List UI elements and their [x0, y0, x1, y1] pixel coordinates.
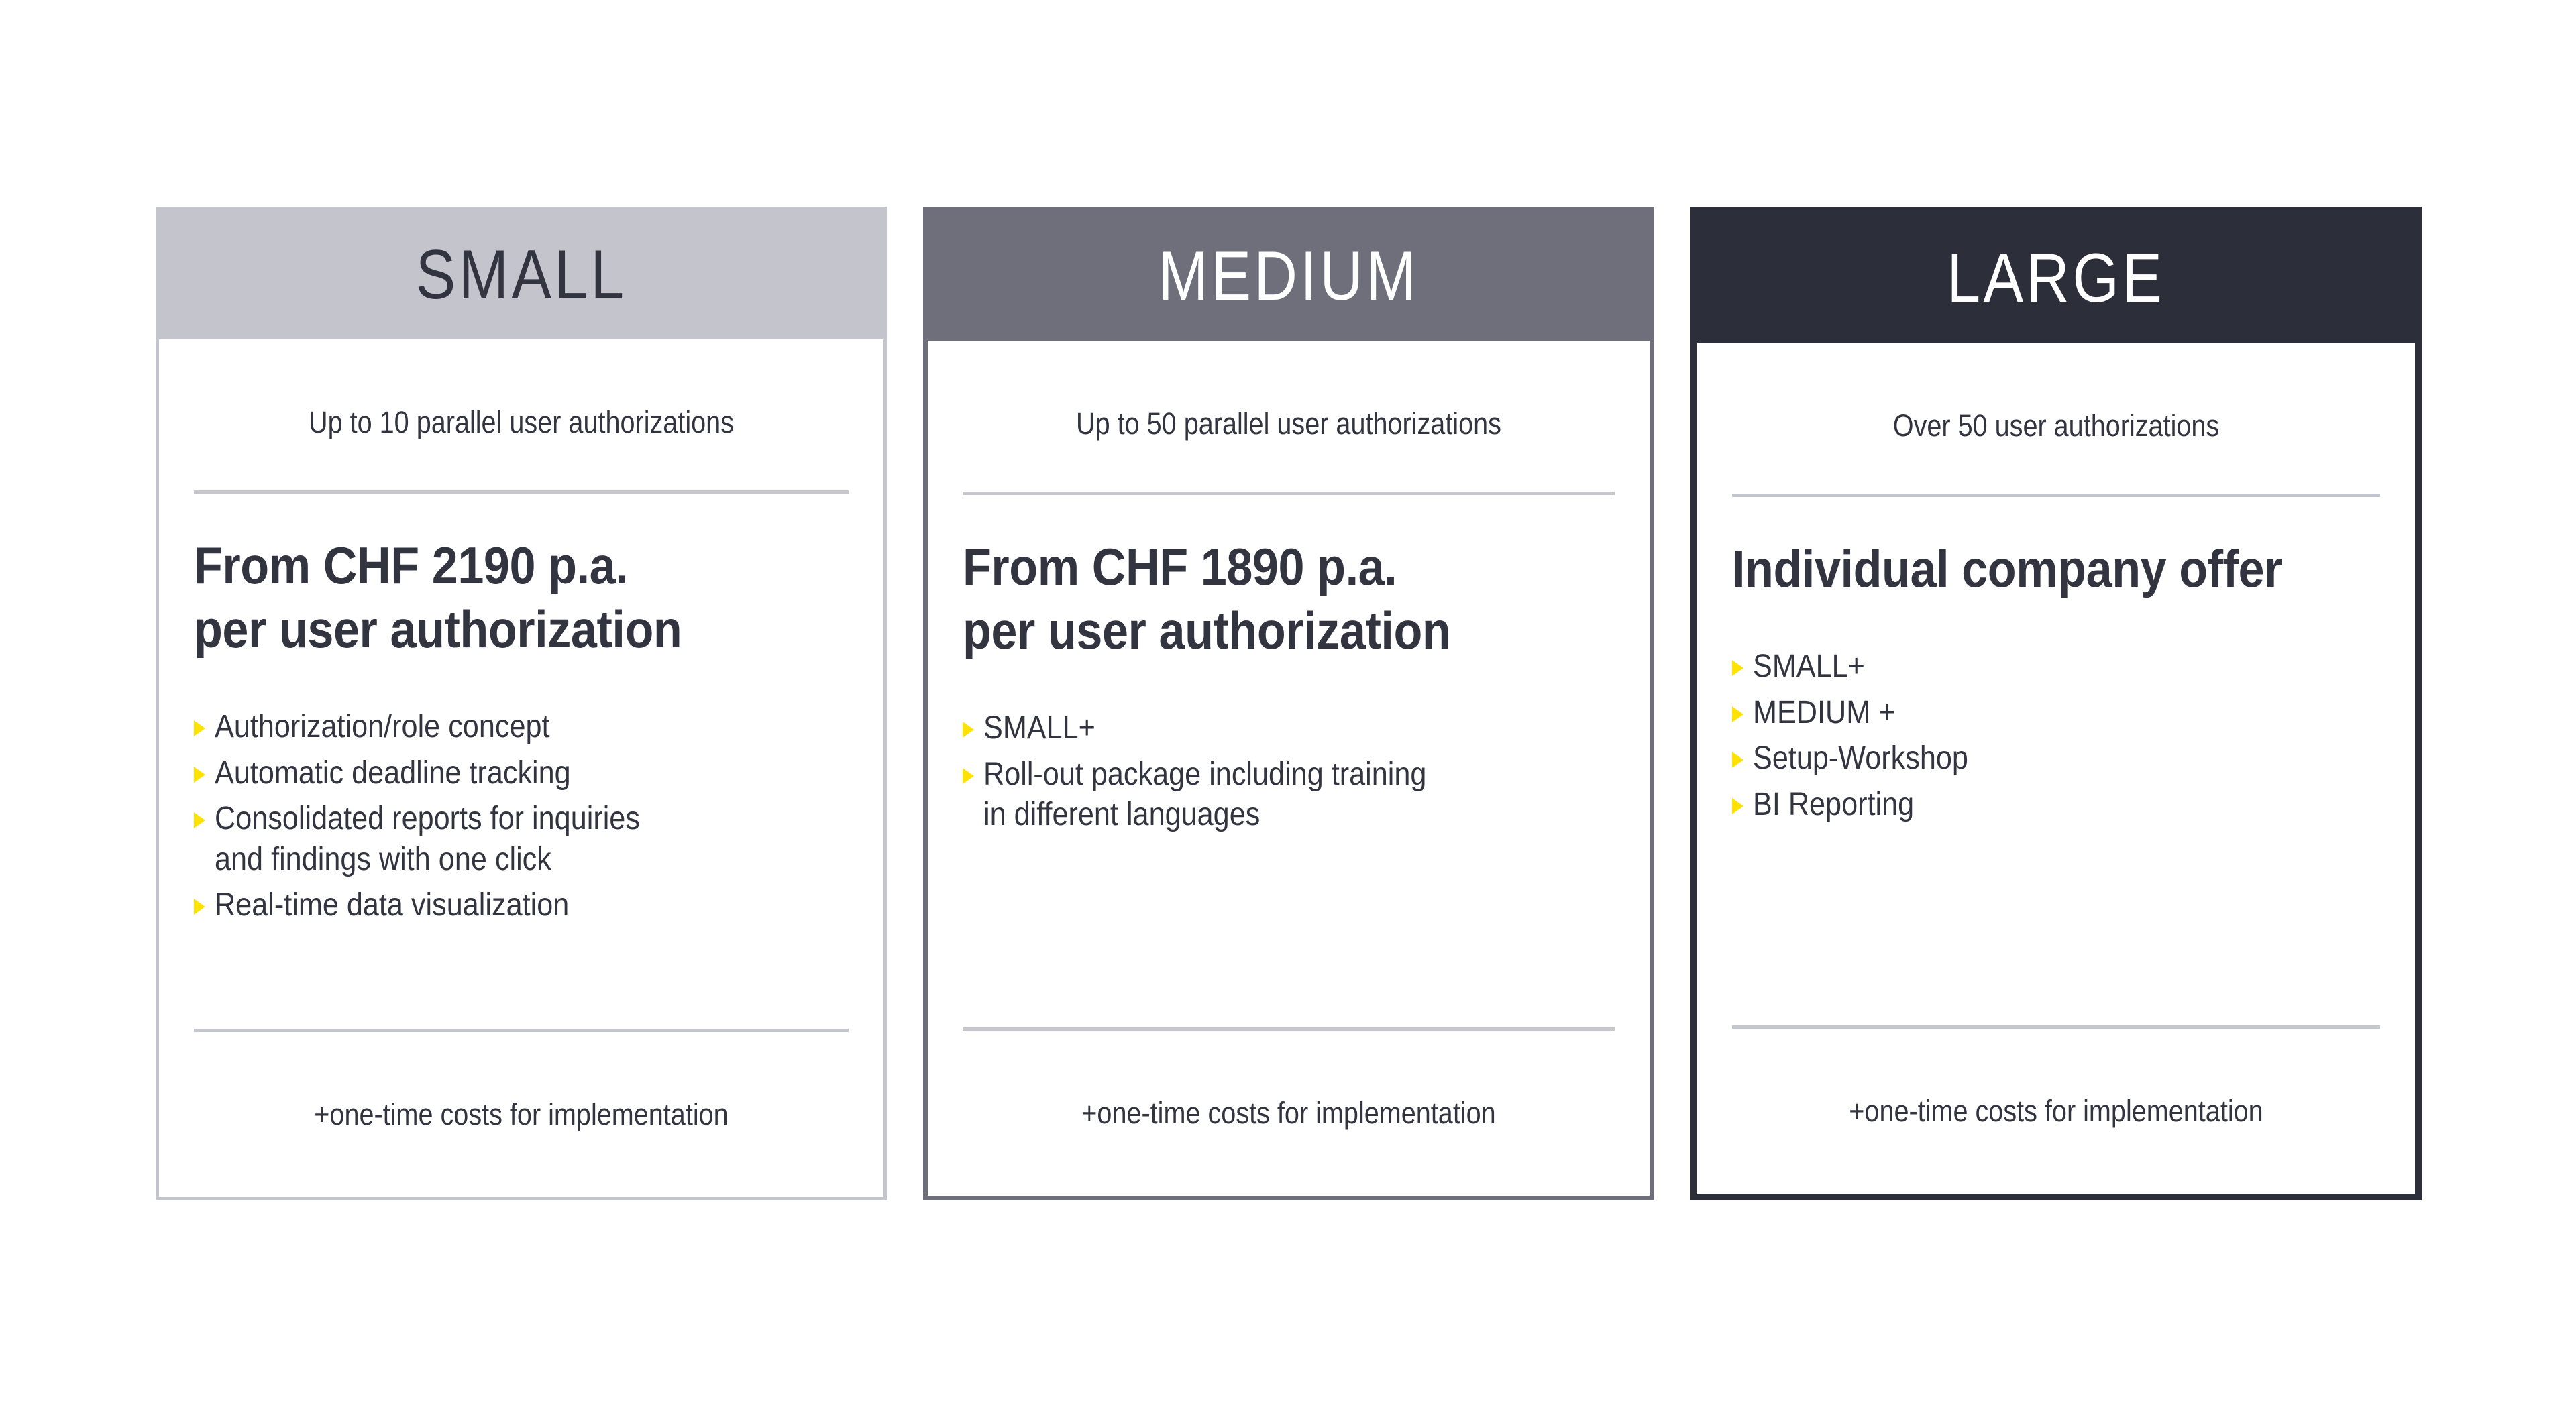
- triangle-bullet-icon: [1732, 660, 1743, 676]
- card-body-large: Over 50 user authorizations Individual c…: [1697, 343, 2415, 1194]
- card-body-medium: Up to 50 parallel user authorizations Fr…: [928, 341, 1650, 1196]
- list-item: Authorization/role concept: [194, 707, 849, 747]
- feature-label: Authorization/role concept: [215, 707, 550, 747]
- feature-label: Setup-Workshop: [1753, 738, 1968, 779]
- feature-label: Real-time data visualization: [215, 885, 569, 926]
- list-item: SMALL+: [963, 708, 1615, 748]
- feature-label: Roll-out package including training in d…: [983, 754, 1426, 836]
- triangle-bullet-icon: [1732, 706, 1743, 722]
- pricing-card-large[interactable]: LARGE Over 50 user authorizations Indivi…: [1690, 207, 2422, 1200]
- list-item: MEDIUM +: [1732, 693, 2380, 733]
- triangle-bullet-icon: [194, 767, 205, 783]
- plan-price-large: Individual company offer: [1732, 537, 2380, 601]
- plan-price-medium: From CHF 1890 p.a. per user authorizatio…: [963, 535, 1615, 663]
- plan-capacity-medium: Up to 50 parallel user authorizations: [1002, 406, 1575, 442]
- pricing-slide: SMALL Up to 10 parallel user authorizati…: [0, 0, 2576, 1401]
- plan-capacity-large: Over 50 user authorizations: [1771, 408, 2341, 444]
- divider-top-small: [194, 490, 849, 494]
- card-header-medium: MEDIUM: [928, 211, 1650, 341]
- price-line-1-small: From CHF 2190 p.a.: [194, 534, 783, 598]
- price-line-2-small: per user authorization: [194, 598, 783, 661]
- divider-bottom-large: [1732, 1025, 2380, 1029]
- pricing-card-row: SMALL Up to 10 parallel user authorizati…: [156, 207, 2422, 1202]
- body-spacer: [963, 841, 1615, 1027]
- list-item: SMALL+: [1732, 647, 2380, 687]
- feature-list-small: Authorization/role concept Automatic dea…: [194, 707, 849, 931]
- price-line-1-large: Individual company offer: [1732, 537, 2315, 601]
- triangle-bullet-icon: [963, 768, 974, 784]
- list-item: Real-time data visualization: [194, 885, 849, 926]
- body-spacer: [1732, 830, 2380, 1025]
- divider-bottom-medium: [963, 1027, 1615, 1031]
- feature-label: BI Reporting: [1753, 785, 1914, 825]
- divider-bottom-small: [194, 1029, 849, 1032]
- plan-footnote-large: +one-time costs for implementation: [1771, 1093, 2341, 1129]
- feature-label: SMALL+: [1753, 647, 1865, 687]
- feature-list-medium: SMALL+ Roll-out package including traini…: [963, 708, 1615, 840]
- card-header-small: SMALL: [159, 210, 883, 339]
- plan-footnote-small: +one-time costs for implementation: [233, 1097, 810, 1133]
- plan-title-small: SMALL: [416, 240, 627, 310]
- divider-top-large: [1732, 494, 2380, 497]
- list-item: Setup-Workshop: [1732, 738, 2380, 779]
- price-line-1-medium: From CHF 1890 p.a.: [963, 535, 1550, 599]
- list-item: Automatic deadline tracking: [194, 753, 849, 793]
- triangle-bullet-icon: [194, 812, 205, 828]
- triangle-bullet-icon: [194, 899, 205, 915]
- plan-title-medium: MEDIUM: [1159, 241, 1419, 311]
- plan-title-large: LARGE: [1947, 243, 2165, 313]
- pricing-card-small[interactable]: SMALL Up to 10 parallel user authorizati…: [156, 207, 887, 1200]
- triangle-bullet-icon: [1732, 752, 1743, 768]
- body-spacer: [194, 932, 849, 1029]
- divider-top-medium: [963, 492, 1615, 495]
- list-item: Consolidated reports for inquiries and f…: [194, 799, 849, 880]
- list-item: BI Reporting: [1732, 785, 2380, 825]
- feature-label: Consolidated reports for inquiries and f…: [215, 799, 640, 880]
- card-body-small: Up to 10 parallel user authorizations Fr…: [159, 339, 883, 1197]
- triangle-bullet-icon: [963, 722, 974, 738]
- feature-label: SMALL+: [983, 708, 1095, 748]
- feature-label: Automatic deadline tracking: [215, 753, 571, 793]
- triangle-bullet-icon: [1732, 798, 1743, 814]
- plan-footnote-medium: +one-time costs for implementation: [1002, 1095, 1575, 1131]
- price-line-2-medium: per user authorization: [963, 599, 1550, 663]
- card-header-large: LARGE: [1697, 213, 2415, 343]
- feature-list-large: SMALL+ MEDIUM + Setup-Workshop BI Report…: [1732, 647, 2380, 830]
- pricing-card-medium[interactable]: MEDIUM Up to 50 parallel user authorizat…: [923, 207, 1654, 1200]
- list-item: Roll-out package including training in d…: [963, 754, 1615, 836]
- triangle-bullet-icon: [194, 720, 205, 736]
- plan-capacity-small: Up to 10 parallel user authorizations: [233, 404, 810, 441]
- feature-label: MEDIUM +: [1753, 693, 1895, 733]
- plan-price-small: From CHF 2190 p.a. per user authorizatio…: [194, 534, 849, 661]
